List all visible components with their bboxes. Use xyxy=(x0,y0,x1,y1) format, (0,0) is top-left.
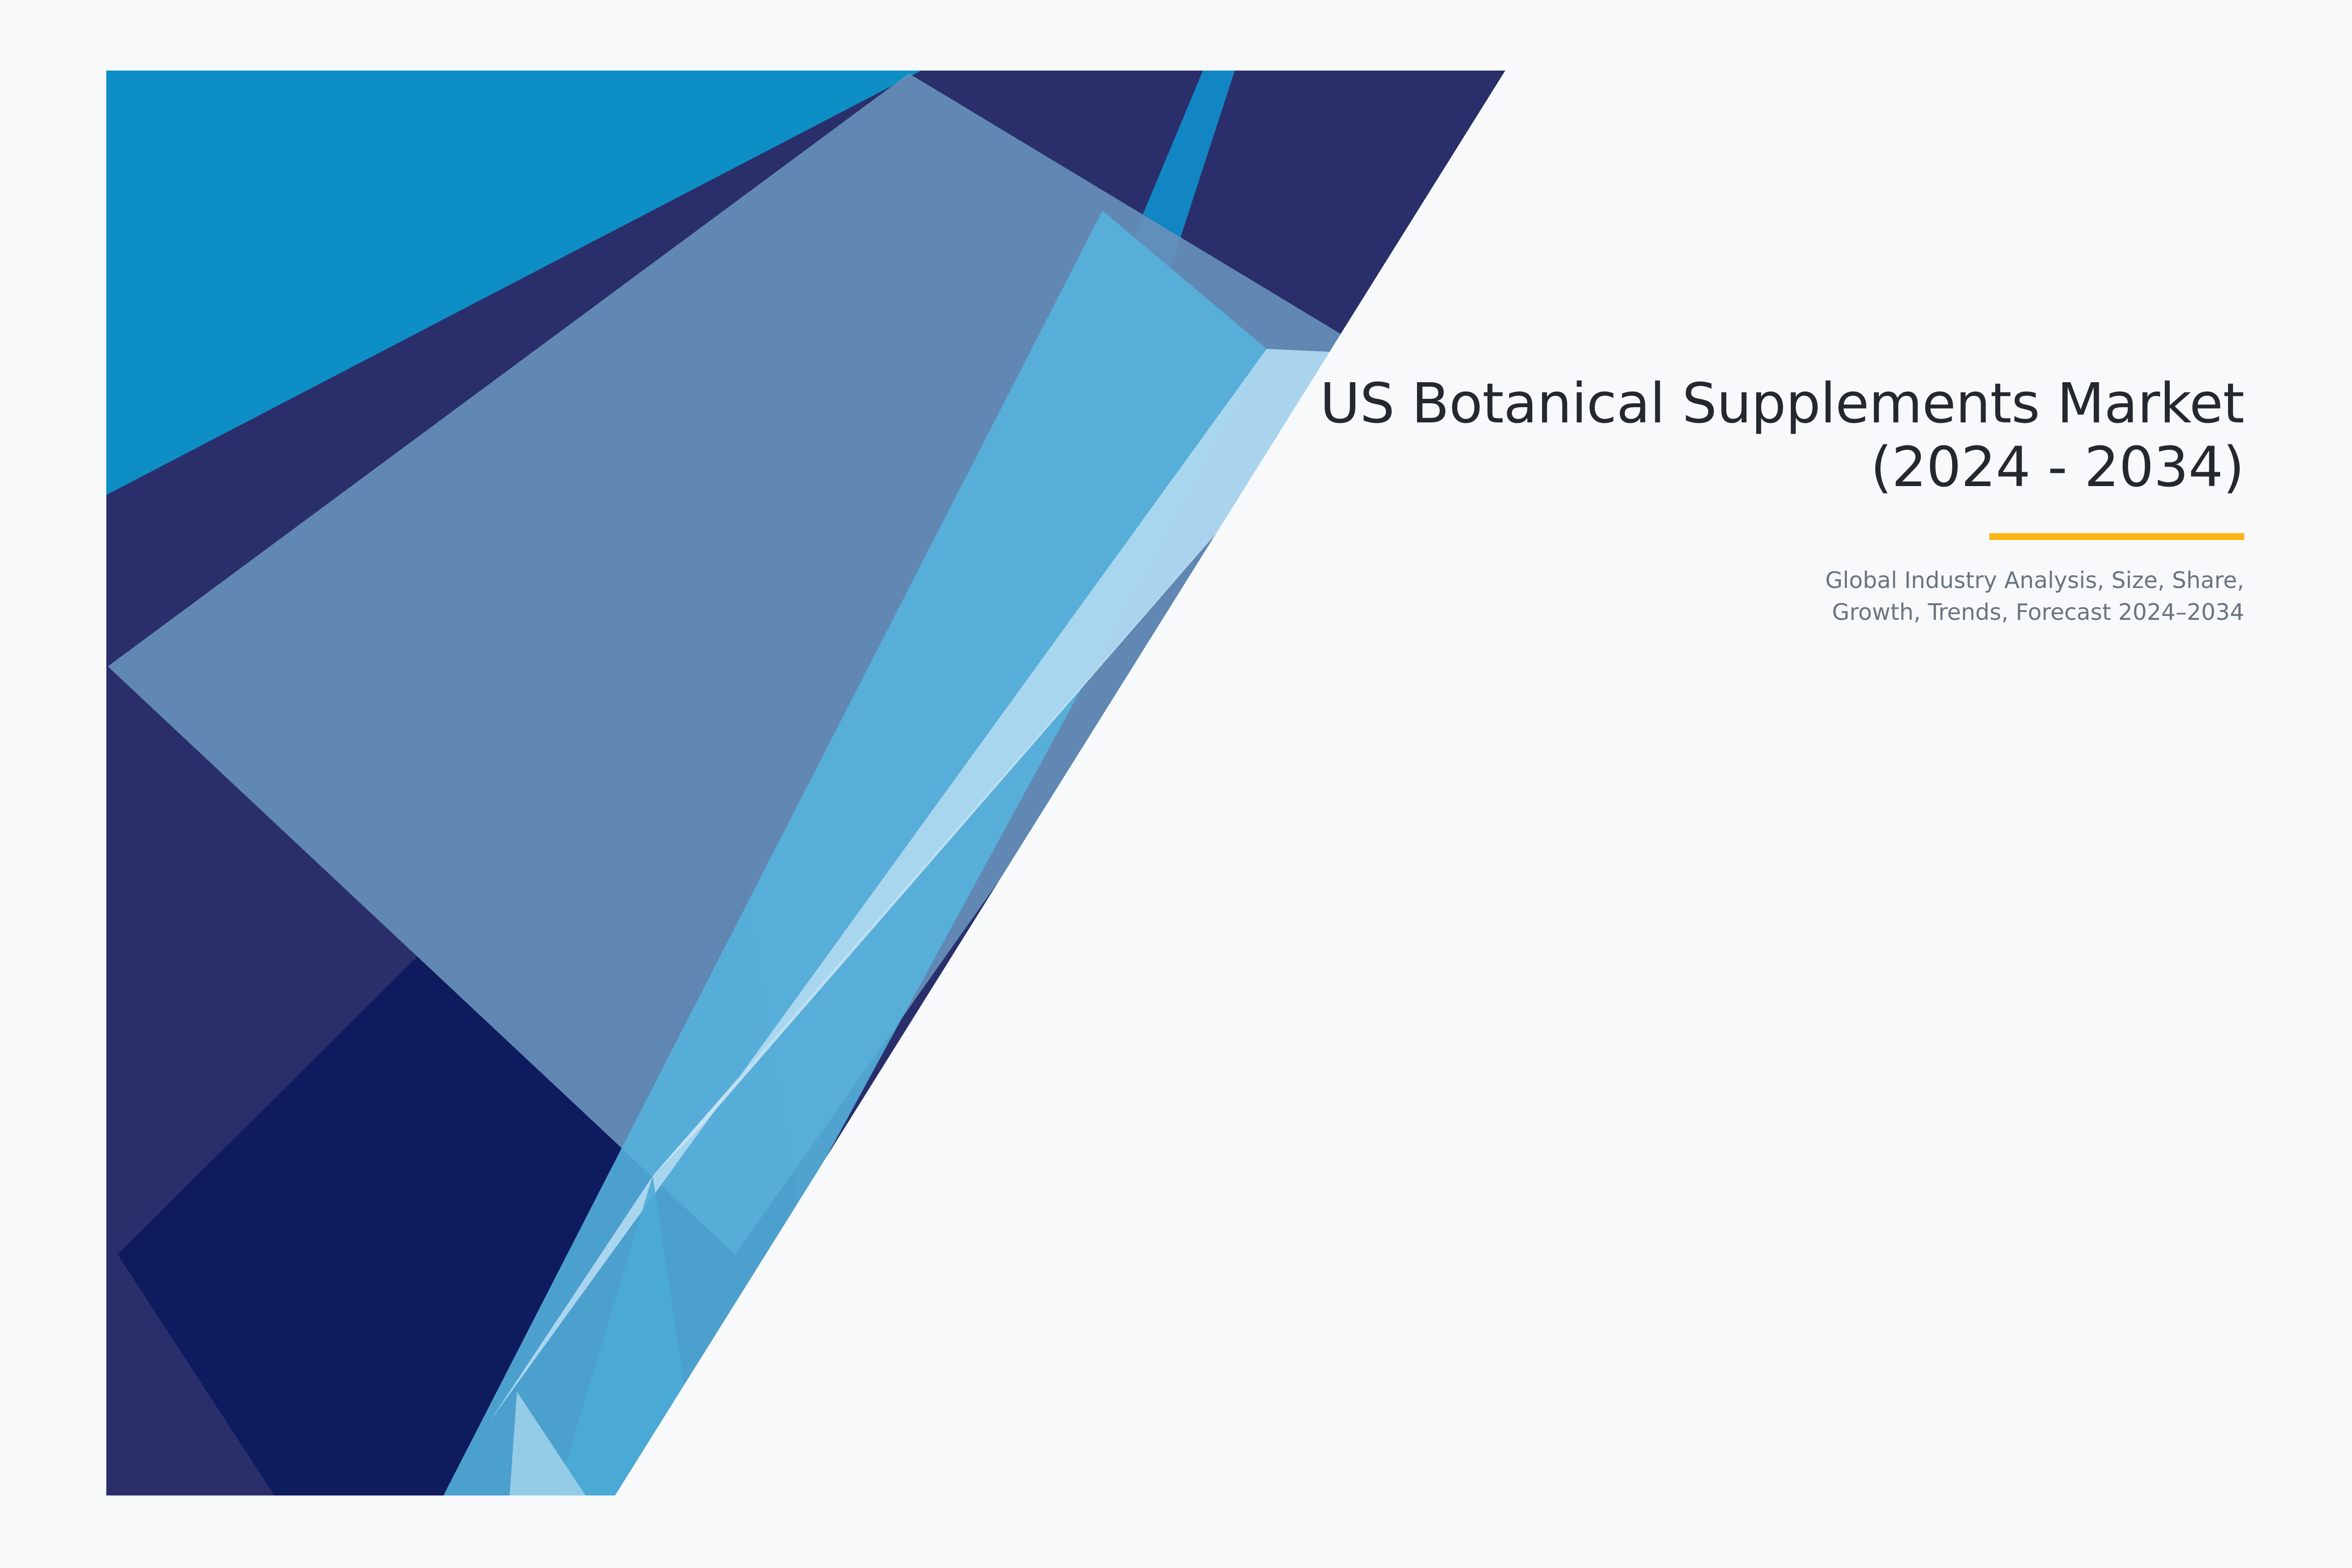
page-subtitle: Global Industry Analysis, Size, Share, G… xyxy=(970,564,2244,629)
page-title: US Botanical Supplements Market (2024 - … xyxy=(970,372,2244,500)
title-line-1: US Botanical Supplements Market xyxy=(970,372,2244,436)
title-line-2: (2024 - 2034) xyxy=(970,436,2244,500)
subtitle-line-1: Global Industry Analysis, Size, Share, xyxy=(970,564,2244,596)
abstract-geometric-artwork xyxy=(0,0,2352,1568)
cover-text-block: US Botanical Supplements Market (2024 - … xyxy=(970,372,2244,628)
subtitle-line-2: Growth, Trends, Forecast 2024–2034 xyxy=(970,596,2244,628)
report-cover-page: US Botanical Supplements Market (2024 - … xyxy=(0,0,2352,1568)
accent-underline-bar xyxy=(1989,533,2244,540)
